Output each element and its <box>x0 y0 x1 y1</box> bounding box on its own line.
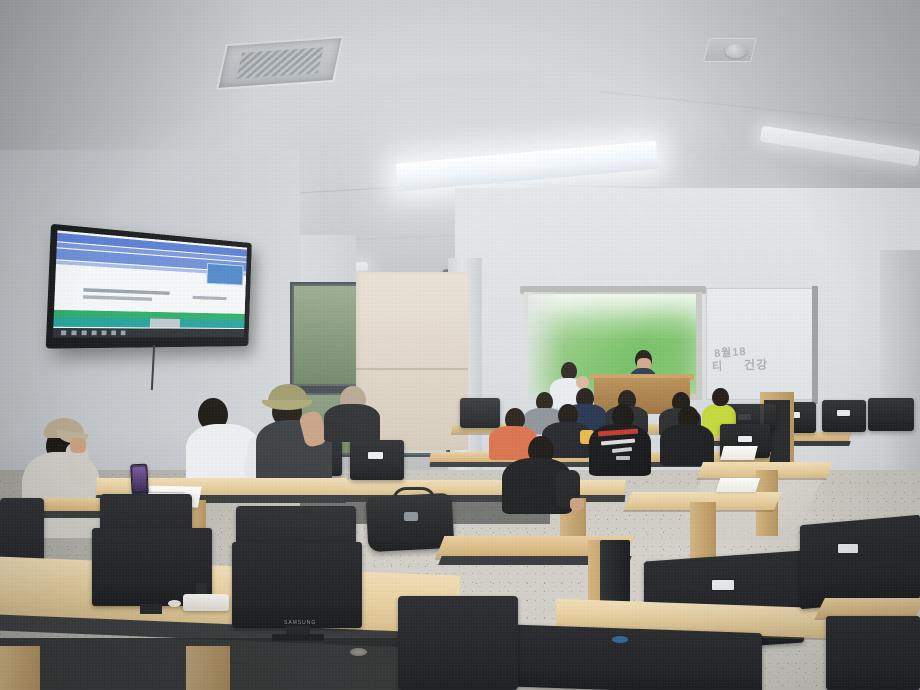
whiteboard-frame <box>812 286 818 404</box>
tshirt-graphic-white <box>616 456 630 460</box>
taskbar-icon <box>61 330 66 335</box>
taskbar-icon <box>92 331 97 336</box>
worksheet-paper <box>720 446 757 460</box>
student-dark-row3b <box>660 424 714 466</box>
monitor-right <box>826 616 920 690</box>
student-back-left <box>324 404 380 442</box>
air-vent-grille <box>236 47 323 79</box>
asset-tag <box>838 544 858 553</box>
person-hand <box>570 498 584 510</box>
phone-screen <box>132 467 146 492</box>
person-hand <box>70 438 86 453</box>
taskbar-icon <box>71 330 76 335</box>
person-head <box>712 388 729 406</box>
taskbar-icon <box>111 331 116 336</box>
tv-ui-side-panel <box>206 263 243 286</box>
monitor-right <box>800 515 920 609</box>
roller-blind-seam <box>356 368 468 370</box>
taskbar-icon <box>101 331 106 336</box>
classroom-photo: 8월18 티 건강 <box>0 0 920 690</box>
person-face <box>576 376 589 389</box>
monitor <box>460 398 500 428</box>
asset-tag <box>368 452 383 459</box>
tv-ui-text-line <box>83 295 152 301</box>
desk-cap <box>168 600 181 607</box>
window-pane-foliage <box>294 286 356 384</box>
monitor-far <box>868 398 914 431</box>
tv-ui-footer-teal <box>53 317 244 328</box>
asset-tag <box>738 436 752 442</box>
taskbar-icon <box>121 331 126 336</box>
bag-tag <box>404 512 418 521</box>
monitor-base <box>272 634 324 641</box>
chair[interactable] <box>398 596 518 690</box>
monitor-stand <box>140 604 162 614</box>
asset-tag <box>712 580 734 590</box>
asset-tag <box>837 410 850 416</box>
monitor-brand-label: SAMSUNG <box>284 620 312 625</box>
tv-ui-text-line <box>193 296 227 300</box>
cable-grommet <box>350 648 367 656</box>
wall-mounted-tv[interactable] <box>46 224 252 349</box>
tv-ui-text-line <box>83 288 169 295</box>
monitor-power-led <box>612 636 628 643</box>
desk-leg <box>0 646 40 690</box>
power-strip[interactable] <box>183 594 229 611</box>
taskbar-icon <box>82 330 87 335</box>
desk-right-edge <box>815 598 920 618</box>
tv-screen <box>53 230 247 337</box>
smartphone[interactable] <box>130 464 149 496</box>
monitor-far <box>822 400 866 432</box>
tv-ui-taskbar <box>53 328 244 338</box>
monitor-foreground <box>232 542 362 628</box>
smoke-detector-icon <box>725 44 747 58</box>
desk-leg <box>186 646 230 690</box>
worksheet-paper <box>716 478 761 492</box>
right-wall <box>880 250 920 490</box>
monitor <box>350 440 404 480</box>
whiteboard-writing: 건강 <box>744 356 769 374</box>
whiteboard-writing: 티 <box>712 358 724 375</box>
air-vent-icon <box>216 36 344 90</box>
